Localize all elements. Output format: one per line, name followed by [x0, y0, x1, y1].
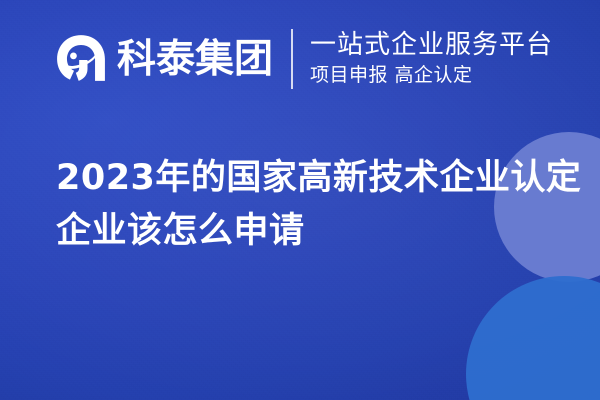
ketai-group-logo-icon [55, 33, 107, 85]
promo-banner: 科泰集团 一站式企业服务平台 项目申报 高企认定 2023年的国家高新技术企业认… [0, 0, 600, 400]
headline-block: 2023年的国家高新技术企业认定 企业该怎么申请 [56, 152, 564, 257]
tagline-block: 一站式企业服务平台 项目申报 高企认定 [310, 31, 570, 86]
banner-header: 科泰集团 一站式企业服务平台 项目申报 高企认定 [55, 24, 570, 94]
brand-lockup: 科泰集团 [55, 33, 273, 85]
header-divider [291, 29, 293, 89]
tagline-secondary: 项目申报 高企认定 [310, 65, 570, 86]
headline-line-1: 2023年的国家高新技术企业认定 [56, 152, 564, 205]
tagline-primary: 一站式企业服务平台 [310, 31, 570, 60]
headline-line-2: 企业该怎么申请 [56, 205, 564, 258]
brand-name: 科泰集团 [117, 40, 273, 79]
